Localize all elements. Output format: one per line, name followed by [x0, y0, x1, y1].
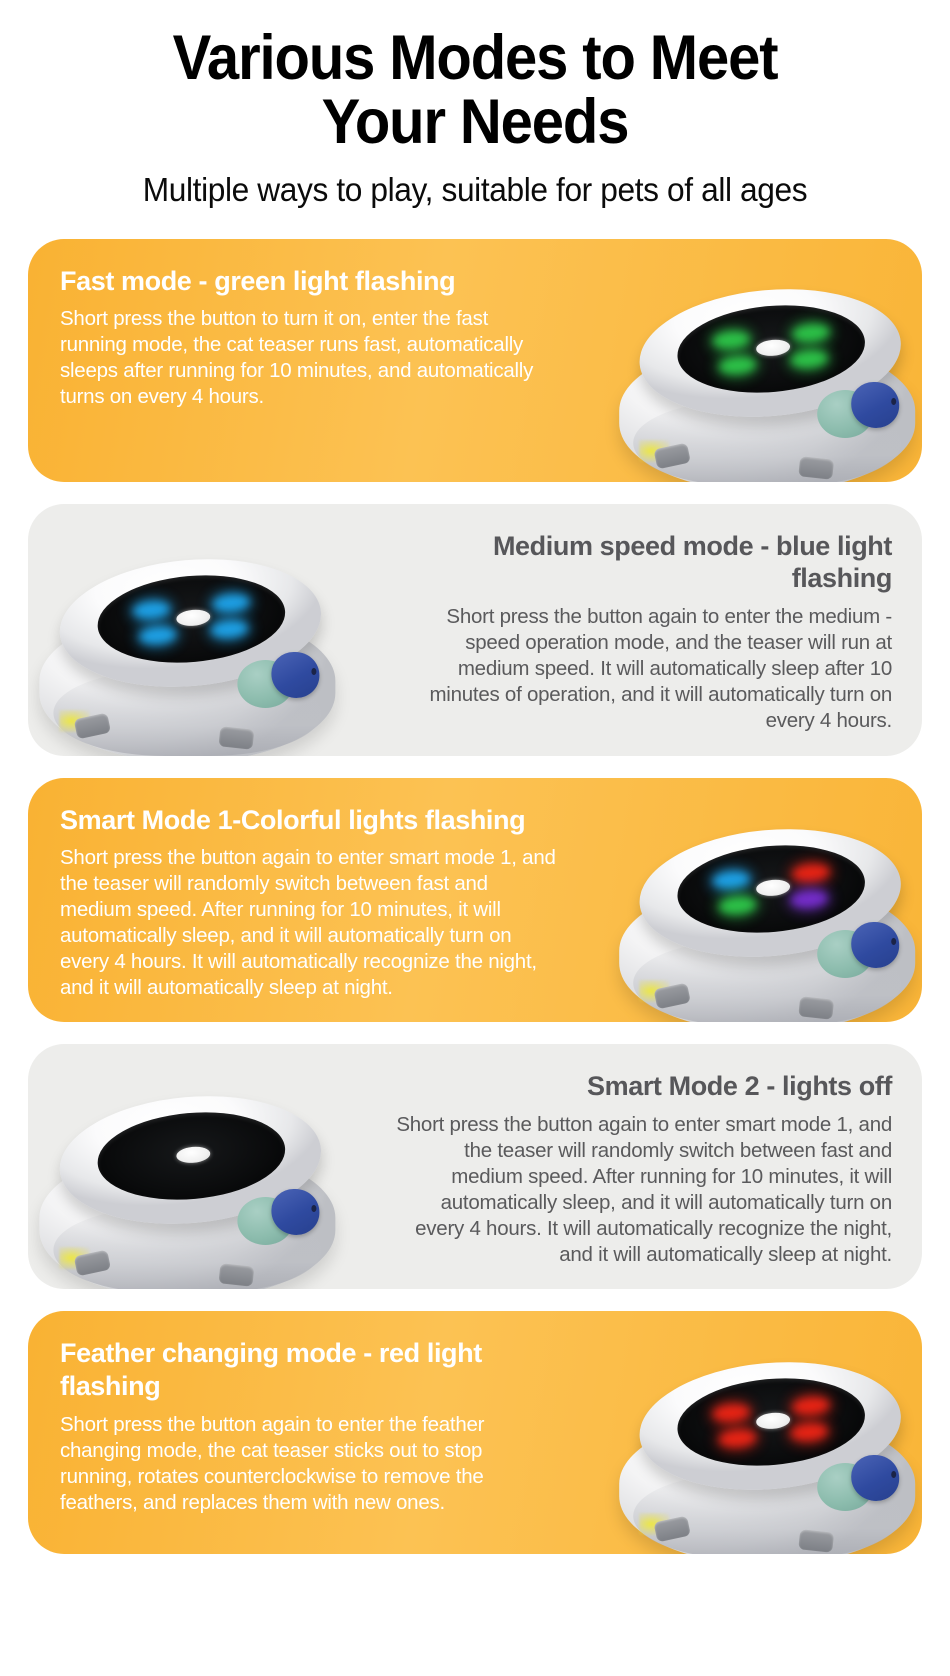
device-foot-tab [798, 1529, 834, 1552]
card-text-block: Smart Mode 1-Colorful lights flashing Sh… [28, 778, 588, 1023]
feather-blue-part [271, 1189, 319, 1235]
card-body: Short press the button to turn it on, en… [60, 306, 558, 409]
led-bottom-left [718, 895, 757, 915]
led-top-left [712, 1403, 751, 1423]
device-illustration-wrap [588, 1311, 922, 1554]
feather-attachment [237, 652, 323, 710]
feather-dot-icon [891, 398, 896, 405]
led-bottom-right [790, 889, 829, 909]
feather-dot-icon [891, 938, 896, 945]
led-top-left [712, 870, 751, 890]
cat-teaser-device-image [28, 1057, 353, 1289]
led-top-right [791, 1396, 830, 1416]
cat-teaser-device-image [28, 520, 353, 756]
led-top-left [132, 1137, 171, 1157]
device-illustration-wrap [28, 504, 362, 756]
card-body: Short press the button again to enter sm… [60, 845, 558, 1000]
device-foot-tab [798, 996, 834, 1019]
card-title: Smart Mode 2 - lights off [394, 1070, 892, 1103]
device-center-hole [176, 1145, 211, 1164]
led-bottom-right [210, 1156, 249, 1176]
card-title: Feather changing mode - red light flashi… [60, 1337, 558, 1403]
led-top-right [791, 863, 830, 883]
led-top-left [132, 599, 171, 619]
led-bottom-left [718, 1428, 757, 1448]
device-center-hole [176, 608, 211, 627]
infographic-page: Various Modes to Meet Your Needs Multipl… [0, 0, 950, 1676]
led-top-right [211, 1130, 250, 1150]
device-foot-tab [218, 1263, 254, 1286]
page-header: Various Modes to Meet Your Needs Multipl… [0, 0, 950, 209]
led-bottom-right [790, 349, 829, 369]
led-bottom-right [210, 619, 249, 639]
mode-card-smart-mode-1: Smart Mode 1-Colorful lights flashing Sh… [28, 778, 922, 1023]
led-bottom-left [138, 625, 177, 645]
led-top-right [791, 323, 830, 343]
card-text-block: Feather changing mode - red light flashi… [28, 1311, 588, 1537]
card-text-block: Medium speed mode - blue light flashing … [362, 504, 922, 756]
feather-dot-icon [311, 1205, 316, 1212]
device-center-hole [755, 1411, 790, 1430]
feather-attachment [817, 382, 903, 440]
card-text-block: Smart Mode 2 - lights off Short press th… [362, 1044, 922, 1289]
mode-card-medium-speed-mode: Medium speed mode - blue light flashing … [28, 504, 922, 756]
page-subtitle: Multiple ways to play, suitable for pets… [19, 171, 931, 209]
page-title-line-2: Your Needs [38, 90, 912, 154]
card-text-block: Fast mode - green light flashing Short p… [28, 239, 588, 432]
feather-blue-part [271, 652, 319, 698]
feather-blue-part [851, 1455, 899, 1501]
feather-dot-icon [891, 1471, 896, 1478]
led-bottom-left [138, 1162, 177, 1182]
cat-teaser-device-image [603, 250, 922, 482]
led-bottom-left [718, 355, 757, 375]
device-center-hole [755, 338, 790, 357]
card-title: Smart Mode 1-Colorful lights flashing [60, 804, 558, 837]
page-title-line-1: Various Modes to Meet [38, 26, 912, 90]
mode-card-fast-mode: Fast mode - green light flashing Short p… [28, 239, 922, 482]
led-top-left [712, 330, 751, 350]
device-illustration-wrap [588, 778, 922, 1023]
card-title: Fast mode - green light flashing [60, 265, 558, 298]
mode-card-list: Fast mode - green light flashing Short p… [0, 239, 950, 1555]
page-title: Various Modes to Meet Your Needs [38, 26, 912, 155]
card-title: Medium speed mode - blue light flashing [394, 530, 892, 596]
feather-attachment [237, 1189, 323, 1247]
device-foot-tab [798, 456, 834, 479]
mode-card-smart-mode-2: Smart Mode 2 - lights off Short press th… [28, 1044, 922, 1289]
feather-attachment [817, 922, 903, 980]
device-foot-tab [218, 726, 254, 749]
feather-dot-icon [311, 668, 316, 675]
feather-blue-part [851, 922, 899, 968]
led-top-right [211, 592, 250, 612]
feather-blue-part [851, 382, 899, 428]
card-body: Short press the button again to enter sm… [394, 1112, 892, 1267]
led-bottom-right [790, 1422, 829, 1442]
card-body: Short press the button again to enter th… [60, 1412, 558, 1515]
card-body: Short press the button again to enter th… [394, 604, 892, 733]
cat-teaser-device-image [603, 1323, 922, 1555]
device-illustration-wrap [588, 239, 922, 482]
device-center-hole [755, 878, 790, 897]
feather-attachment [817, 1455, 903, 1513]
device-illustration-wrap [28, 1044, 362, 1289]
cat-teaser-device-image [603, 790, 922, 1022]
mode-card-feather-changing-mode: Feather changing mode - red light flashi… [28, 1311, 922, 1554]
